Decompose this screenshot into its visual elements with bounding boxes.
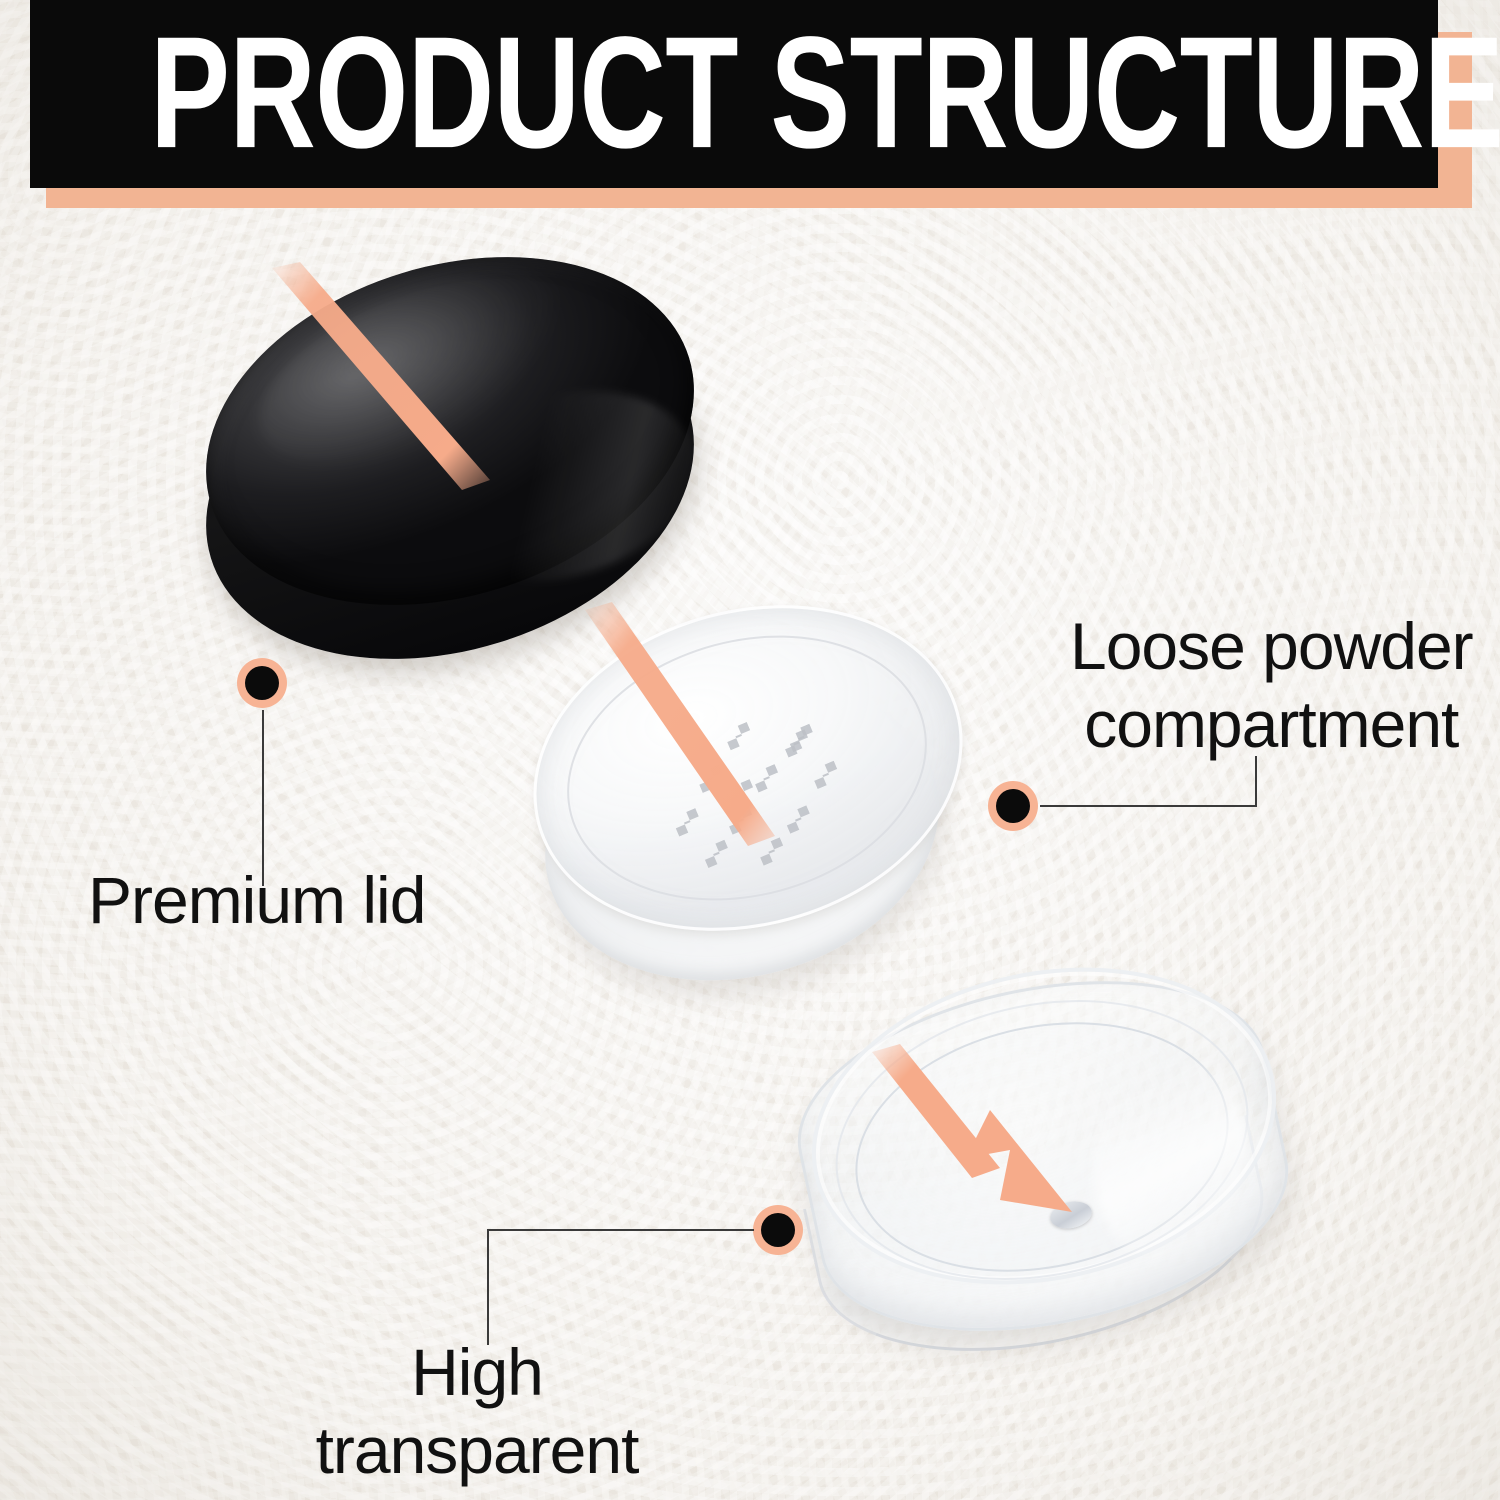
leader-line-transparent-box-vertical bbox=[487, 1229, 489, 1345]
sifter-hole bbox=[810, 761, 842, 790]
callout-dot-core bbox=[761, 1213, 795, 1247]
callout-dot-high-transparent-box[interactable] bbox=[753, 1205, 803, 1255]
leader-line-loose-powder-horizontal bbox=[1040, 805, 1257, 807]
sifter-hole bbox=[782, 805, 814, 834]
sifter-hole bbox=[671, 808, 703, 837]
callout-dot-premium-lid[interactable] bbox=[237, 658, 287, 708]
callout-label-high-transparent-box: High transparent box bbox=[262, 1334, 692, 1500]
infographic-canvas: PRODUCT STRUCTURE bbox=[0, 0, 1500, 1500]
sifter-hole bbox=[756, 837, 788, 866]
callout-dot-core bbox=[996, 789, 1030, 823]
page-title: PRODUCT STRUCTURE bbox=[150, 13, 1500, 172]
sifter-hole bbox=[751, 764, 783, 793]
product-part-high-transparent-box bbox=[795, 930, 1315, 1380]
callout-label-premium-lid: Premium lid bbox=[88, 862, 425, 940]
sifter-hole bbox=[725, 806, 757, 835]
callout-dot-core bbox=[245, 666, 279, 700]
sifter-hole bbox=[701, 840, 733, 869]
callout-dot-loose-powder-compartment[interactable] bbox=[988, 781, 1038, 831]
sifter-hole bbox=[695, 764, 727, 793]
header-banner: PRODUCT STRUCTURE bbox=[30, 0, 1438, 188]
leader-line-premium-lid bbox=[262, 710, 264, 886]
sifter-hole bbox=[726, 779, 758, 808]
callout-label-loose-powder-compartment: Loose powder compartment bbox=[1070, 608, 1473, 764]
leader-line-transparent-box-horizontal bbox=[488, 1229, 754, 1231]
